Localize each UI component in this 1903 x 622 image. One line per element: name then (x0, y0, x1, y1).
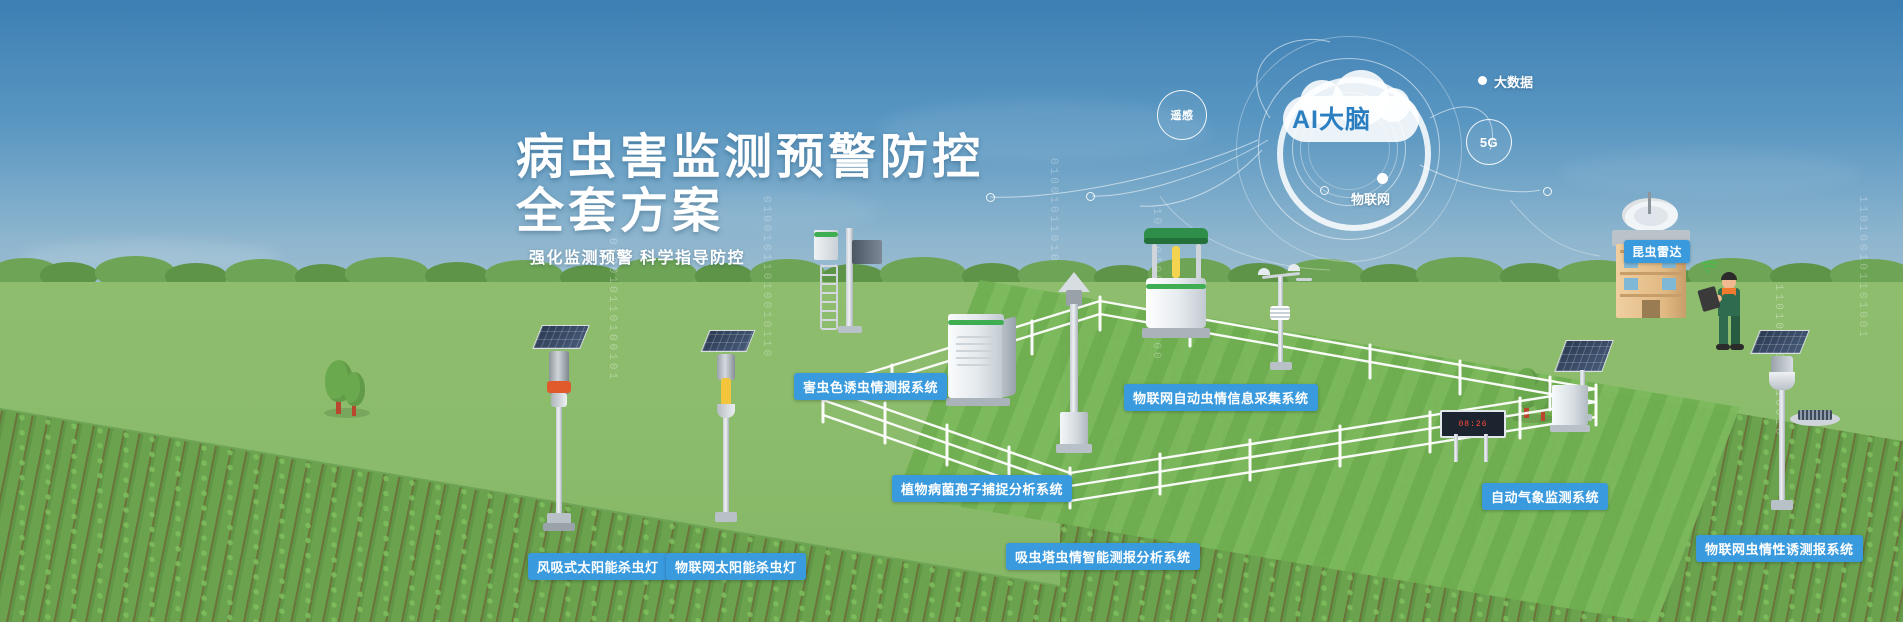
led-pole-l (1454, 434, 1458, 462)
worker-shoe-r (1730, 344, 1744, 350)
control-box-base (1550, 425, 1590, 432)
collector-strut-l (1152, 244, 1157, 280)
pheromone-funnel (1769, 372, 1795, 390)
spore-cabinet-side (1002, 316, 1016, 398)
weather-mast (1278, 276, 1283, 364)
lamp-tube (721, 378, 731, 406)
label-pest-color-trap[interactable]: 害虫色诱虫情测报系统 (794, 373, 947, 400)
label-suction-tower[interactable]: 吸虫塔虫情智能测报分析系统 (1006, 543, 1200, 570)
device-suction-tower[interactable] (1052, 272, 1098, 460)
lamp-funnel (551, 393, 567, 407)
lamp-foot (543, 523, 575, 531)
device-pest-color-trap[interactable] (808, 222, 886, 332)
led-display-text: 08:26 (1458, 420, 1487, 429)
spore-vent (956, 336, 996, 366)
radar-feed-arm (1648, 192, 1651, 214)
wifi-icon-arc-2 (1698, 261, 1721, 276)
worker-shoe-l (1716, 344, 1730, 350)
spore-green-band (948, 320, 1004, 325)
label-insect-radar[interactable]: 昆虫雷达 (1624, 240, 1690, 263)
label-wind-suction-solar-insect-lamp[interactable]: 风吸式太阳能杀虫灯 (528, 553, 668, 580)
solar-panel-icon-2 (701, 330, 756, 352)
label-spore-capture[interactable]: 植物病菌孢子捕捉分析系统 (892, 475, 1072, 502)
radar-floor-line-3 (1620, 294, 1682, 297)
lamp-base-2 (715, 512, 737, 522)
device-weather-control-box (1552, 385, 1596, 441)
device-wind-suction-solar-insect-lamp[interactable] (535, 325, 595, 550)
collector-green-band (1146, 284, 1206, 289)
device-spore-capture[interactable] (948, 314, 1022, 410)
lamp-housing-2 (717, 354, 735, 380)
pheromone-pole (1779, 390, 1785, 502)
radar-door (1642, 300, 1660, 318)
ground-sensor-panel (1798, 410, 1832, 420)
solar-panel-icon (532, 325, 590, 349)
label-iot-solar-insect-lamp[interactable]: 物联网太阳能杀虫灯 (666, 553, 806, 580)
weather-base (1270, 362, 1292, 370)
lamp-pole (556, 407, 562, 515)
device-iot-solar-insect-lamp[interactable] (705, 330, 761, 545)
weather-anemometer-cup-l (1258, 268, 1270, 275)
tower-mast (1070, 304, 1078, 420)
trap-green-strip (814, 232, 838, 237)
device-auto-weather-station[interactable] (1258, 264, 1328, 376)
device-led-display-board: 08:26 (1440, 410, 1510, 470)
lamp-pole-2 (723, 418, 729, 514)
led-display-screen: 08:26 (1440, 410, 1506, 438)
infographic-banner: 病虫害监测预警防控 全套方案 强化监测预警 科学指导防控 AI大脑 遥感 5G (0, 0, 1903, 622)
device-iot-pest-collector[interactable] (1140, 228, 1218, 348)
collector-base (1142, 328, 1210, 338)
radar-window-3 (1624, 278, 1638, 290)
weather-vane (1296, 278, 1312, 281)
collector-lamp (1172, 246, 1180, 278)
lamp-cup (717, 404, 735, 418)
ground-sensor-unit (1790, 406, 1842, 428)
tower-intake-cone (1058, 272, 1090, 292)
label-auto-weather-station[interactable]: 自动气象监测系统 (1482, 483, 1608, 510)
field-worker-figure (1700, 270, 1760, 360)
worker-leg-r (1731, 316, 1740, 346)
radar-floor-line-2 (1620, 272, 1682, 275)
device-iot-pheromone-forecast[interactable] (1755, 330, 1825, 530)
tower-cabinet (1060, 412, 1088, 446)
spore-base (946, 398, 1010, 406)
weather-anemometer-cup-r (1288, 264, 1300, 271)
collector-strut-r (1196, 244, 1201, 280)
tower-base (1056, 444, 1092, 453)
lamp-collector (547, 381, 571, 393)
radar-window-4 (1662, 278, 1676, 290)
worker-hair (1721, 272, 1737, 280)
worker-leg-l (1719, 316, 1728, 346)
control-box-body (1552, 385, 1588, 425)
trap-ladder (820, 264, 838, 330)
radar-dish-inner (1634, 206, 1668, 226)
device-insect-radar-building[interactable] (1598, 198, 1708, 328)
label-iot-pest-collector[interactable]: 物联网自动虫情信息采集系统 (1124, 384, 1318, 411)
trap-base (838, 326, 862, 333)
label-iot-pheromone-forecast[interactable]: 物联网虫情性诱测报系统 (1696, 535, 1863, 562)
pheromone-base (1771, 500, 1793, 510)
led-pole-r (1484, 434, 1488, 462)
weather-sensor-shield (1270, 306, 1290, 320)
trap-controller (852, 240, 882, 264)
solar-panel-icon-3 (1554, 340, 1614, 372)
